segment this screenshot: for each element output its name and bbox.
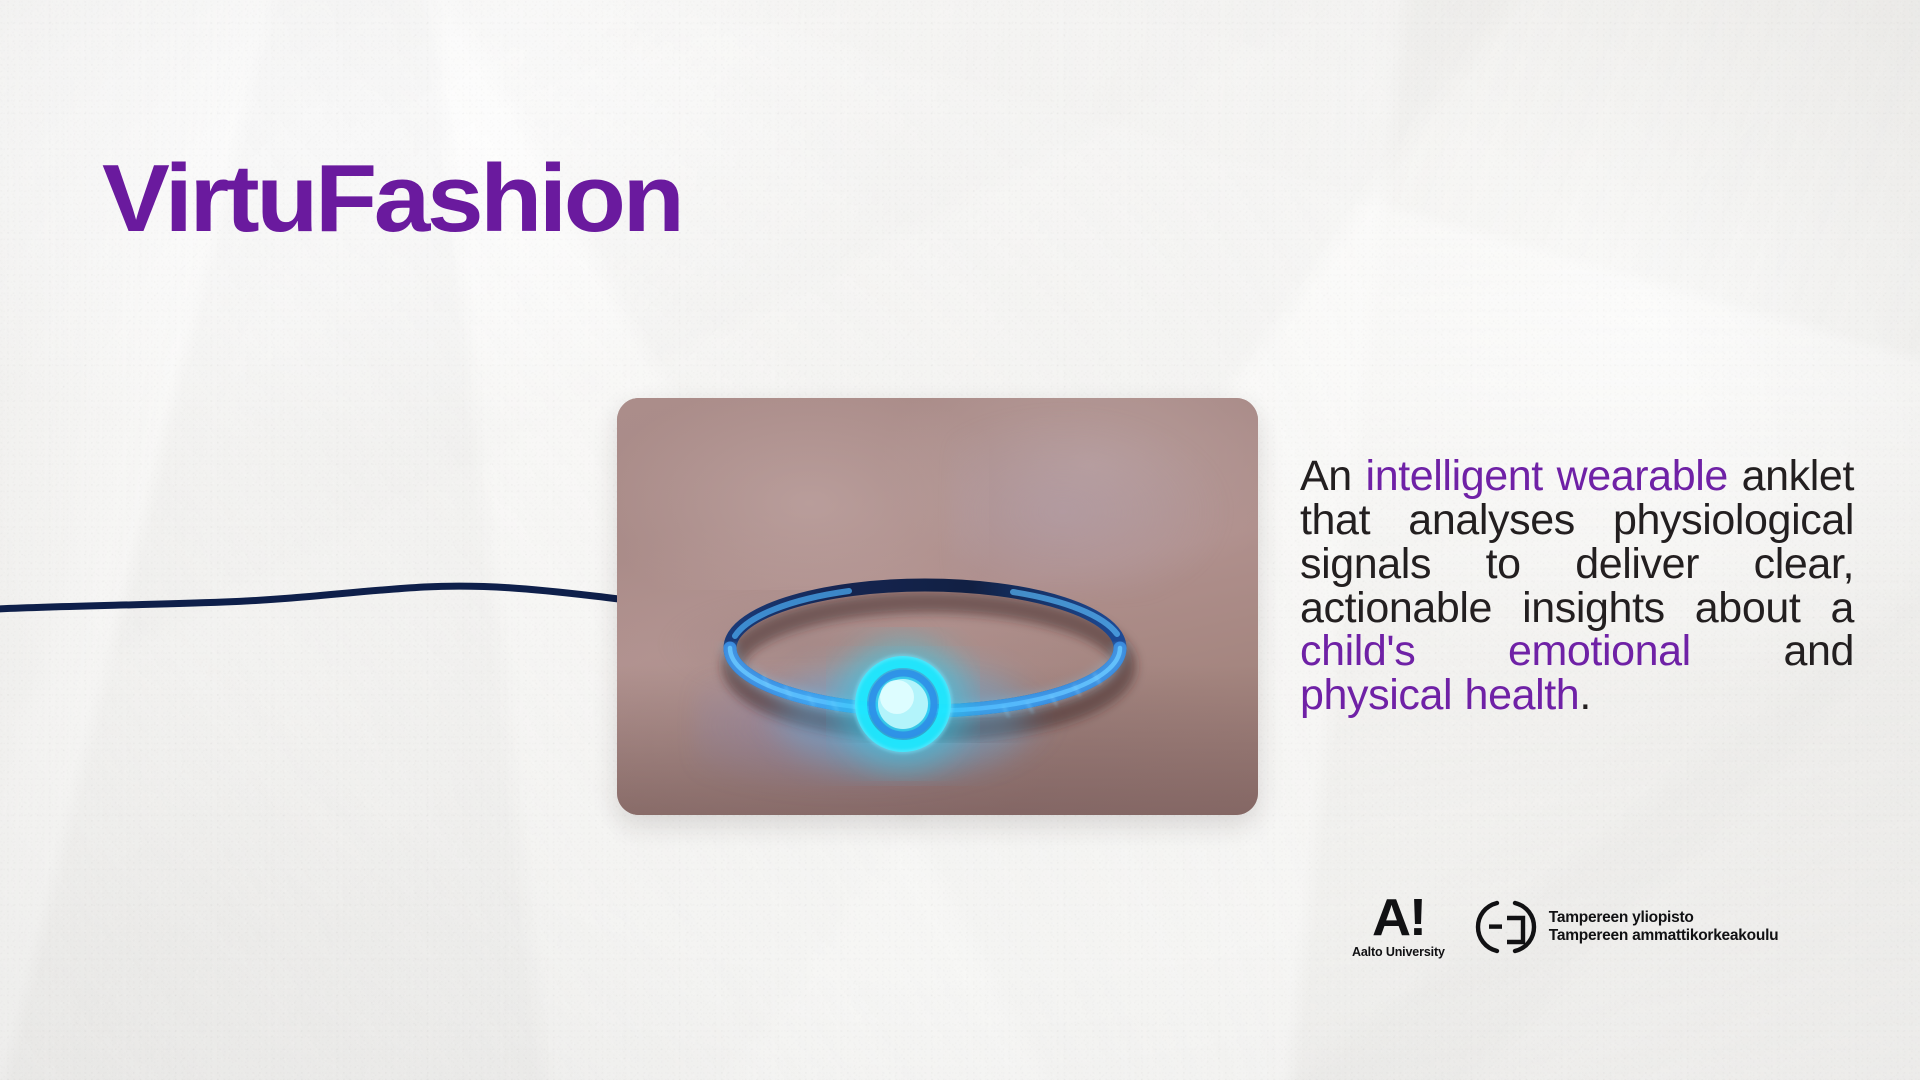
desc-segment-6: . xyxy=(1579,671,1591,719)
aalto-university-logo: A! Aalto University xyxy=(1352,895,1445,959)
aalto-mark-text: A! xyxy=(1372,895,1425,942)
navy-wavy-line-icon xyxy=(0,565,634,629)
tampere-universities-logo: Tampereen yliopisto Tampereen ammattikor… xyxy=(1473,897,1779,957)
desc-highlight-child-emotional: child's emotional xyxy=(1300,627,1691,675)
page-title: VirtuFashion xyxy=(102,150,649,248)
partner-logos: A! Aalto University Tampereen yliopisto … xyxy=(1352,895,1778,959)
product-description: An intelligent wearable anklet that anal… xyxy=(1300,455,1854,718)
product-image-card xyxy=(617,398,1258,815)
tampere-line-2: Tampereen ammattikorkeakoulu xyxy=(1549,927,1779,945)
brand-title-text: VirtuFashion xyxy=(102,150,681,248)
tampere-mark-icon xyxy=(1473,897,1539,957)
desc-highlight-intelligent-wearable: intelligent wearable xyxy=(1366,452,1728,500)
glowing-sensor-module-icon xyxy=(849,532,957,640)
desc-segment-4: and xyxy=(1691,627,1854,675)
tampere-line-1: Tampereen yliopisto xyxy=(1549,909,1779,927)
desc-highlight-physical-health: physical health xyxy=(1300,671,1579,719)
presentation-slide: VirtuFashion xyxy=(0,0,1920,1080)
tampere-name-text: Tampereen yliopisto Tampereen ammattikor… xyxy=(1549,909,1779,946)
desc-segment-0: An xyxy=(1300,452,1366,500)
